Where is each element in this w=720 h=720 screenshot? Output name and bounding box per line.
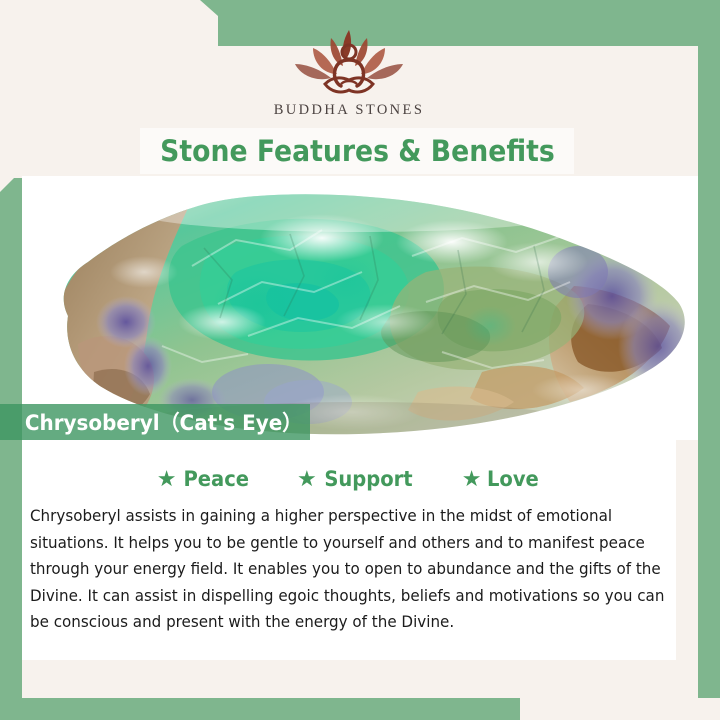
stone-name-label: Chrysoberyl（Cat's Eye）: [8, 407, 303, 437]
star-icon: ★: [462, 468, 482, 490]
benefits-row: ★ Peace ★ Support ★ Love: [22, 460, 676, 498]
brand-name: BUDDHA STONES: [274, 102, 425, 119]
page-title-banner: Stone Features & Benefits: [140, 128, 574, 174]
benefit-item-peace: ★ Peace: [157, 467, 251, 491]
benefit-item-love: ★ Love: [462, 467, 541, 491]
page-title: Stone Features & Benefits: [160, 134, 555, 168]
benefit-item-support: ★ Support: [297, 467, 416, 491]
frame-decoration-bottom: [0, 698, 560, 720]
frame-decoration-bottom-strip: [520, 698, 720, 720]
stone-name-tag: Chrysoberyl（Cat's Eye）: [0, 404, 310, 440]
stone-description: Chrysoberyl assists in gaining a higher …: [30, 503, 670, 636]
frame-decoration-left: [0, 178, 22, 720]
frame-decoration-right: [698, 0, 720, 700]
benefit-label: Support: [324, 467, 412, 491]
lotus-meditation-icon: [273, 22, 425, 100]
stone-photo-graphic: [22, 176, 698, 440]
brand-logo: BUDDHA STONES: [0, 22, 698, 132]
star-icon: ★: [157, 468, 177, 490]
benefit-label: Peace: [183, 467, 249, 491]
stone-photo: [22, 176, 698, 440]
star-icon: ★: [297, 468, 317, 490]
stone-info-card: BUDDHA STONES Stone Features & Benefits: [0, 0, 720, 720]
benefit-label: Love: [487, 467, 539, 491]
